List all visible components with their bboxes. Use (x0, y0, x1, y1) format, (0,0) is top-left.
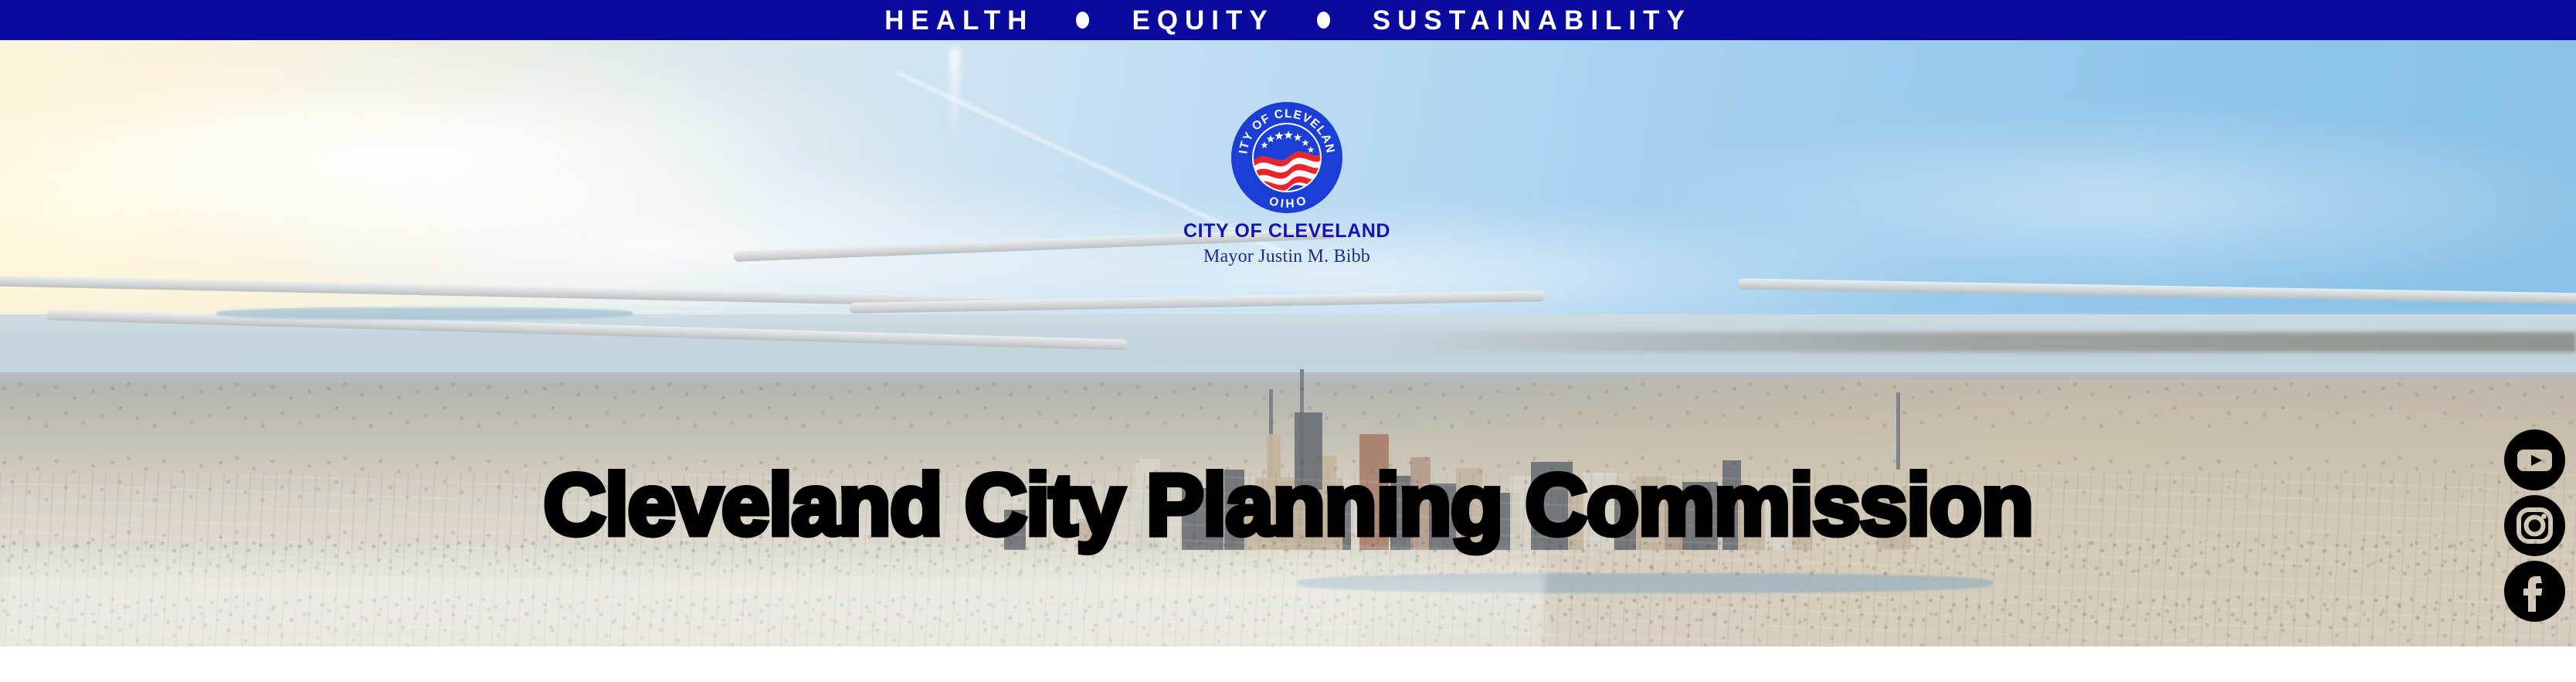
social-links (2504, 429, 2566, 622)
river-bend (216, 307, 633, 320)
bullet-dot-icon (1076, 12, 1089, 29)
tagline-banner: HEALTH EQUITY SUSTAINABILITY (0, 0, 2576, 40)
page-title: Cleveland City Planning Commission (0, 462, 2576, 548)
mayor-name: Mayor Justin M. Bibb (1118, 246, 1455, 268)
city-wordmark: CITY OF CLEVELAND (1118, 221, 1455, 241)
far-shoreline (1390, 332, 2576, 352)
tagline-word-sustainability: SUSTAINABILITY (1373, 7, 1692, 34)
tagline-word-health: HEALTH (884, 7, 1033, 34)
city-brand-block: CITY OF CLEVELAND OHIO (1118, 100, 1455, 268)
contrail (950, 48, 959, 141)
page-root: HEALTH EQUITY SUSTAINABILITY (0, 0, 2576, 682)
youtube-icon[interactable] (2504, 429, 2565, 490)
instagram-icon[interactable] (2504, 495, 2565, 556)
facebook-icon[interactable] (2504, 561, 2565, 622)
city-of-cleveland-seal-icon: CITY OF CLEVELAND OHIO (1230, 100, 1344, 215)
bottom-strip (0, 646, 2576, 682)
bullet-dot-icon (1317, 12, 1330, 29)
tagline-word-equity: EQUITY (1132, 7, 1274, 34)
snow-cover (0, 542, 1545, 646)
